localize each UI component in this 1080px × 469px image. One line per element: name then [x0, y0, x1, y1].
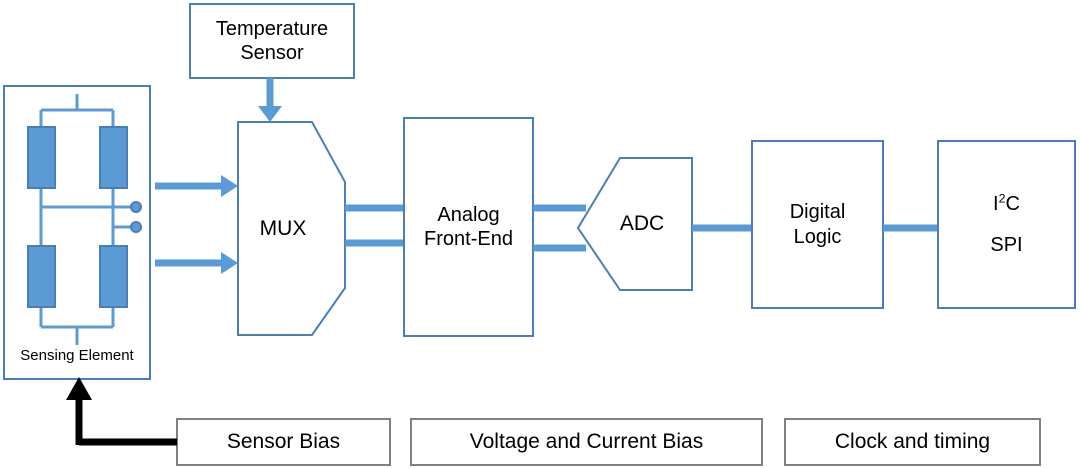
resistor-top-right [100, 127, 127, 188]
clock-and-timing-box[interactable] [785, 419, 1040, 465]
connector-sensor-to-mux-lower [155, 252, 238, 274]
adc-block[interactable] [578, 158, 692, 290]
connector-sensor-to-mux-upper [155, 175, 238, 197]
sensor-bias-box[interactable] [177, 419, 390, 465]
resistor-top-left [28, 127, 55, 188]
voltage-current-bias-box[interactable] [411, 419, 762, 465]
connector-temp-to-mux [258, 78, 282, 122]
resistor-bottom-right [100, 246, 127, 307]
bridge-terminal-negative [131, 222, 141, 232]
connector-sensor-bias-to-sensing-element [66, 377, 177, 445]
block-diagram-graphics [0, 0, 1080, 469]
temperature-sensor-box[interactable] [190, 4, 354, 78]
digital-logic-box[interactable] [752, 141, 883, 308]
resistor-bottom-left [28, 246, 55, 307]
interface-box[interactable] [938, 141, 1075, 308]
diagram-canvas: Sensing Element Temperature Sensor MUX A… [0, 0, 1080, 469]
analog-front-end-box[interactable] [404, 118, 533, 336]
mux-block[interactable] [238, 122, 345, 335]
bridge-terminal-positive [131, 202, 141, 212]
